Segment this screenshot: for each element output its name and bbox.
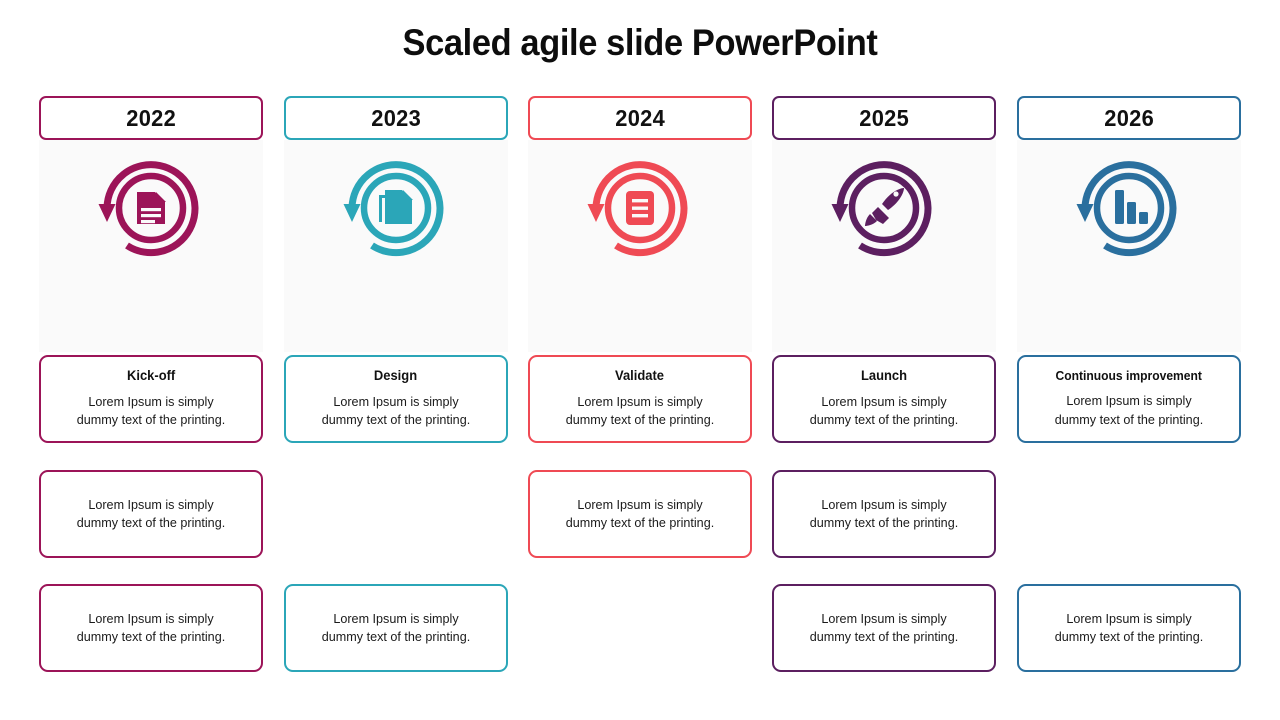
timeline-column-2026: 2026 Continuous improvement Lorem Ipsum …	[1017, 96, 1241, 676]
label-box-2026[interactable]: Continuous improvement Lorem Ipsum is si…	[1017, 355, 1241, 443]
year-box-2022[interactable]: 2022	[39, 96, 263, 140]
label-box-2022[interactable]: Kick-off Lorem Ipsum is simply dummy tex…	[39, 355, 263, 443]
note-text: Lorem Ipsum is simply dummy text of the …	[810, 610, 958, 647]
label-title: Continuous improvement	[1056, 369, 1202, 383]
year-box-2025[interactable]: 2025	[772, 96, 996, 140]
label-description: Lorem Ipsum is simply dummy text of the …	[77, 393, 225, 430]
note-box-row3[interactable]: Lorem Ipsum is simply dummy text of the …	[772, 584, 996, 672]
label-title: Design	[374, 369, 417, 384]
note-text: Lorem Ipsum is simply dummy text of the …	[1055, 610, 1203, 647]
note-text: Lorem Ipsum is simply dummy text of the …	[566, 496, 714, 533]
note-text: Lorem Ipsum is simply dummy text of the …	[77, 610, 225, 647]
note-text: Lorem Ipsum is simply dummy text of the …	[322, 610, 470, 647]
label-title: Kick-off	[127, 369, 175, 384]
note-text: Lorem Ipsum is simply dummy text of the …	[810, 496, 958, 533]
label-description: Lorem Ipsum is simply dummy text of the …	[1055, 392, 1203, 429]
year-label: 2024	[615, 105, 665, 132]
year-box-2026[interactable]: 2026	[1017, 96, 1241, 140]
timeline-column-2022: 2022 Kick-off	[39, 96, 263, 676]
label-description: Lorem Ipsum is simply dummy text of the …	[566, 393, 714, 430]
page-title: Scaled agile slide PowerPoint	[45, 22, 1235, 64]
note-box-row3[interactable]: Lorem Ipsum is simply dummy text of the …	[39, 584, 263, 672]
note-box-row3[interactable]: Lorem Ipsum is simply dummy text of the …	[284, 584, 508, 672]
label-description: Lorem Ipsum is simply dummy text of the …	[322, 393, 470, 430]
year-label: 2025	[859, 105, 909, 132]
year-box-2023[interactable]: 2023	[284, 96, 508, 140]
note-text: Lorem Ipsum is simply dummy text of the …	[77, 496, 225, 533]
timeline-column-2023: 2023 Design Lorem Ipsum is simply dummy …	[284, 96, 508, 676]
year-box-2024[interactable]: 2024	[528, 96, 752, 140]
rocket-icon	[820, 144, 948, 272]
copy-documents-icon	[332, 144, 460, 272]
label-description: Lorem Ipsum is simply dummy text of the …	[810, 393, 958, 430]
timeline-columns: 2022 Kick-off	[39, 96, 1241, 676]
note-box-row2[interactable]: Lorem Ipsum is simply dummy text of the …	[772, 470, 996, 558]
year-label: 2026	[1104, 105, 1154, 132]
note-box-row3[interactable]: Lorem Ipsum is simply dummy text of the …	[1017, 584, 1241, 672]
timeline-column-2024: 2024 Validate Lorem Ipsum is simply dumm…	[528, 96, 752, 676]
timeline-column-2025: 2025 Launch Lorem Ipsum is simply dummy …	[772, 96, 996, 676]
label-box-2023[interactable]: Design Lorem Ipsum is simply dummy text …	[284, 355, 508, 443]
label-box-2024[interactable]: Validate Lorem Ipsum is simply dummy tex…	[528, 355, 752, 443]
label-title: Validate	[616, 369, 665, 384]
note-box-row2[interactable]: Lorem Ipsum is simply dummy text of the …	[39, 470, 263, 558]
document-icon	[87, 144, 215, 272]
list-document-icon	[576, 144, 704, 272]
label-title: Launch	[861, 369, 907, 384]
note-box-row2[interactable]: Lorem Ipsum is simply dummy text of the …	[528, 470, 752, 558]
label-box-2025[interactable]: Launch Lorem Ipsum is simply dummy text …	[772, 355, 996, 443]
year-label: 2022	[126, 105, 176, 132]
bar-chart-icon	[1065, 144, 1193, 272]
year-label: 2023	[371, 105, 421, 132]
